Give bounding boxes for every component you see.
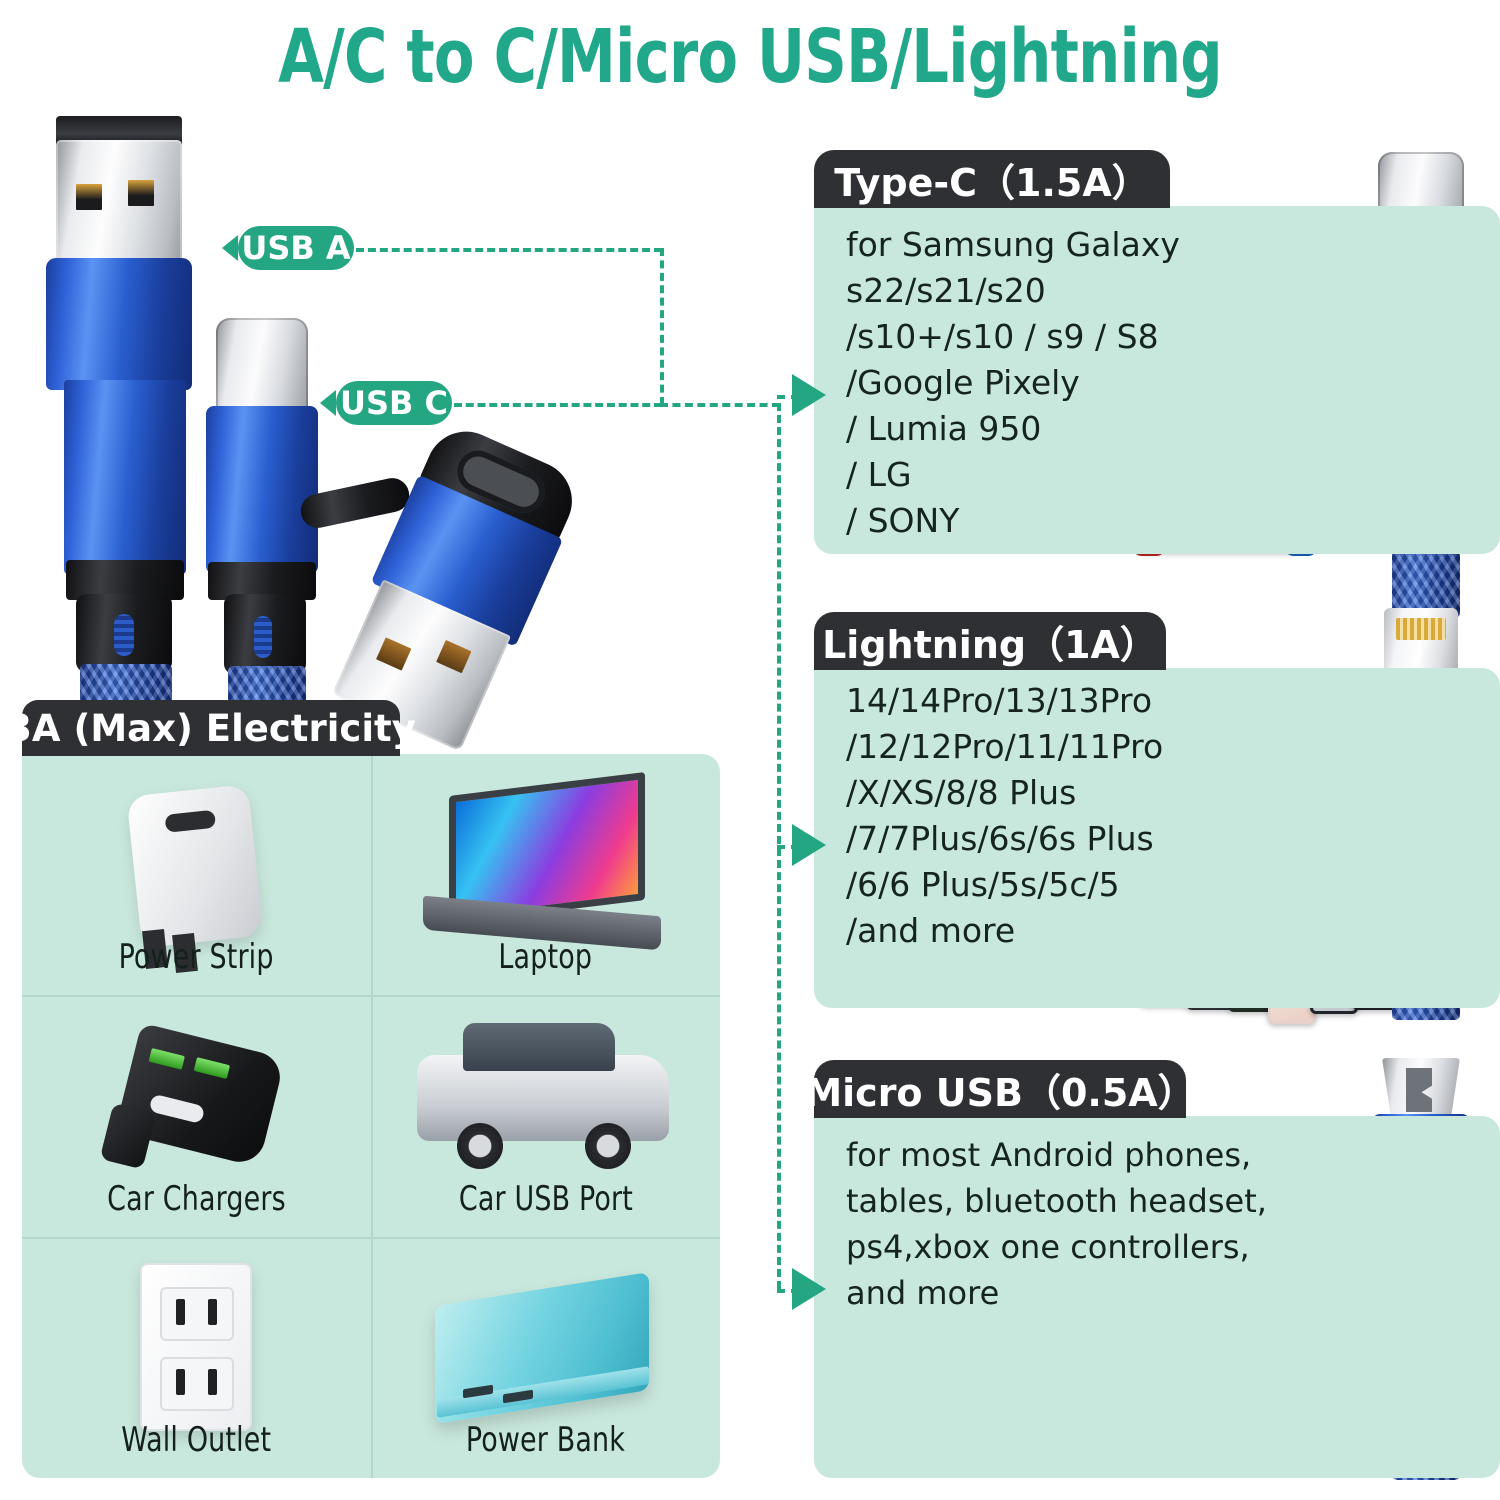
usb-a-blue-body [64,380,186,574]
car-charger-indicator [149,1094,206,1125]
usb-a-blue-housing [46,258,192,390]
car-windows [463,1023,615,1071]
micro-usb-body-text: for most Android phones, tables, bluetoo… [846,1132,1406,1316]
car-charger-barrel [100,1103,157,1170]
wall-outlet-icon [140,1263,252,1431]
arrow-to-lightning-panel [792,824,826,866]
usb-c-label: USB C [336,381,452,425]
usb-a-pin [376,637,411,670]
charger-usb-c-port [164,810,216,833]
electricity-item-label: Car Chargers [107,1179,286,1219]
electricity-item-label: Car USB Port [458,1179,632,1219]
micro-usb-tab-label: Micro USB（0.5A） [814,1060,1186,1118]
dashed-line-trunk [660,403,780,407]
electricity-tab-label: 3A (Max) Electricity [22,700,400,756]
usb-a-label: USB A [238,226,354,270]
outlet-socket [160,1287,234,1341]
electricity-item-car-chargers: Car Chargers [22,995,371,1236]
outlet-socket [160,1357,234,1411]
dashed-line-usb-a-down [660,248,664,405]
electricity-item-label: Power Strip [119,937,274,977]
type-c-body-text: for Samsung Galaxy s22/s21/s20 /s10+/s10… [846,222,1276,544]
usb-c-strain-relief [224,594,306,674]
arrow-to-type-c-panel [792,374,826,416]
electricity-item-label: Power Bank [466,1420,625,1460]
grid-divider-horizontal [22,1237,720,1239]
wall-charger-icon [126,784,263,948]
electricity-item-laptop: Laptop [371,754,720,995]
strain-dimple [254,616,272,658]
car-charger-usb-port [194,1057,230,1079]
usb-a-pin [76,184,102,210]
usb-a-pill-notch [222,235,238,261]
usb-a-pin [128,180,154,206]
usb-a-strain-relief [76,594,172,672]
lightning-body-text: 14/14Pro/13/13Pro /12/12Pro/11/11Pro /X/… [846,678,1286,954]
infographic-root: A/C to C/Micro USB/Lightning [0,0,1500,1500]
electricity-item-label: Laptop [499,937,593,977]
lightning-pins [1396,618,1446,640]
electricity-item-power-strip: Power Strip [22,754,371,995]
page-title: A/C to C/Micro USB/Lightning [150,14,1350,100]
car-wheel [457,1123,503,1169]
electricity-item-label: Wall Outlet [121,1420,271,1460]
usb-c-tip [216,318,308,416]
strain-dimple [114,614,134,656]
arrow-to-micro-usb-panel [792,1268,826,1310]
electricity-item-car-usb-port: Car USB Port [371,995,720,1236]
usb-c-pill-notch [320,390,336,416]
usb-a-pin [436,640,471,673]
grid-divider-horizontal [22,995,720,997]
electricity-item-wall-outlet: Wall Outlet [22,1237,371,1478]
dashed-line-usb-c [454,403,662,407]
type-c-tab-label: Type-C（1.5A） [814,150,1170,208]
car-charger-usb-port [149,1048,185,1070]
dashed-line-usb-a [356,248,662,252]
car-wheel [585,1123,631,1169]
grid-divider-vertical [371,754,373,1478]
electricity-grid: Power Strip Laptop Car Chargers [22,754,720,1478]
electricity-item-power-bank: Power Bank [371,1237,720,1478]
usb-c-blue-housing [206,406,318,574]
lightning-tab-label: Lightning（1A） [814,612,1166,670]
